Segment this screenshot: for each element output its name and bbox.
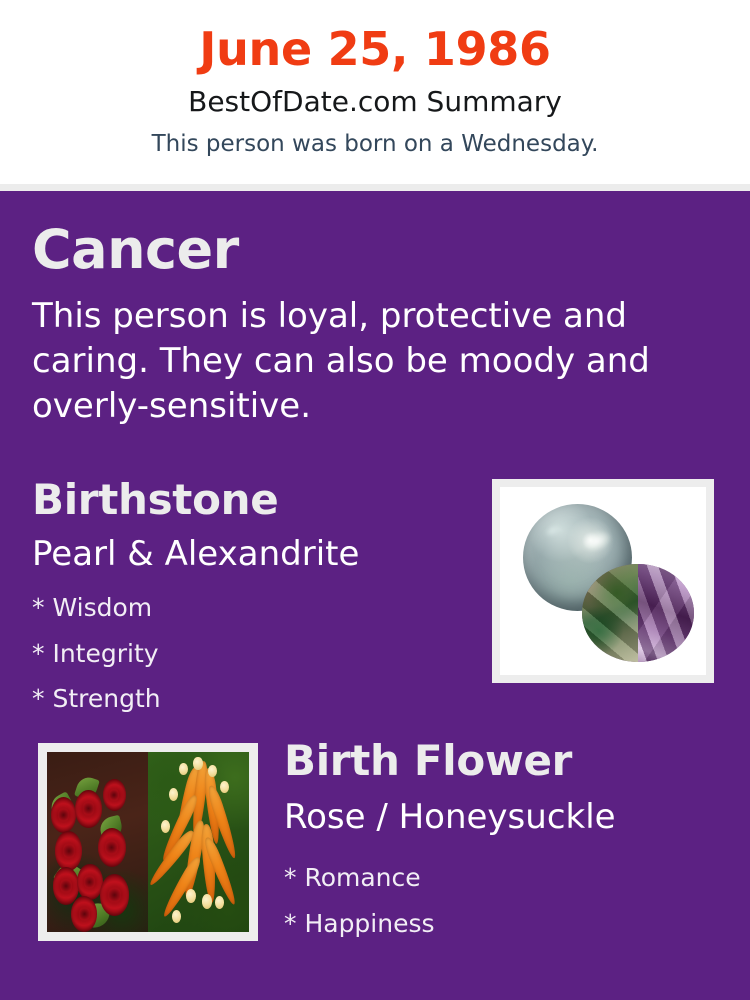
list-item: * Strength [32, 676, 452, 722]
list-item: * Integrity [32, 631, 452, 677]
roses-pane [47, 752, 148, 932]
birthstone-image [492, 479, 714, 683]
birth-flower-heading: Birth Flower [284, 738, 572, 783]
list-item: * Romance [284, 855, 684, 901]
birthstone-name: Pearl & Alexandrite [32, 535, 359, 574]
rose-bloom [100, 874, 129, 915]
honeysuckle-bud [161, 820, 170, 833]
summary-card: June 25, 1986 BestOfDate.com Summary Thi… [0, 0, 750, 1000]
alexandrite-rough-half [582, 564, 638, 662]
honeysuckle-bud [202, 894, 212, 908]
rose-bloom [77, 864, 102, 900]
honeysuckle-bud [193, 757, 202, 770]
header: June 25, 1986 BestOfDate.com Summary Thi… [0, 0, 750, 184]
zodiac-sign-name: Cancer [32, 221, 239, 279]
born-day-text: This person was born on a Wednesday. [0, 131, 750, 157]
page-title-date: June 25, 1986 [0, 23, 750, 76]
rose-bloom [103, 779, 126, 811]
birth-flower-traits-list: * Romance * Happiness [284, 855, 684, 946]
alexandrite-gem-shape [582, 564, 693, 662]
header-divider [0, 184, 750, 191]
birthstone-heading: Birthstone [32, 477, 278, 522]
rose-bloom [55, 831, 82, 871]
birth-flower-name: Rose / Honeysuckle [284, 798, 616, 837]
zodiac-description: This person is loyal, protective and car… [32, 294, 652, 430]
birthstone-traits-list: * Wisdom * Integrity * Strength [32, 585, 452, 722]
honeysuckle-bud [220, 781, 229, 794]
alexandrite-faceted-half [638, 564, 694, 662]
pearl-highlight [580, 527, 613, 555]
rose-bloom [98, 828, 126, 868]
list-item: * Wisdom [32, 585, 452, 631]
honeysuckle-bud [208, 765, 217, 778]
birth-flower-image-canvas [47, 752, 249, 932]
honeysuckle-bud [172, 910, 181, 923]
site-summary-label: BestOfDate.com Summary [0, 86, 750, 118]
birthstone-image-canvas [500, 487, 706, 675]
honeysuckle-pane [148, 752, 249, 932]
honeysuckle-bud [186, 889, 196, 903]
honeysuckle-bud [179, 763, 188, 776]
pearl-secondary-highlight [543, 522, 563, 540]
list-item: * Happiness [284, 901, 684, 947]
birth-flower-image [38, 743, 258, 941]
honeysuckle-bud [215, 896, 224, 909]
honeysuckle-bud [169, 788, 178, 801]
rose-bloom [51, 797, 76, 833]
rose-bloom [75, 790, 101, 828]
